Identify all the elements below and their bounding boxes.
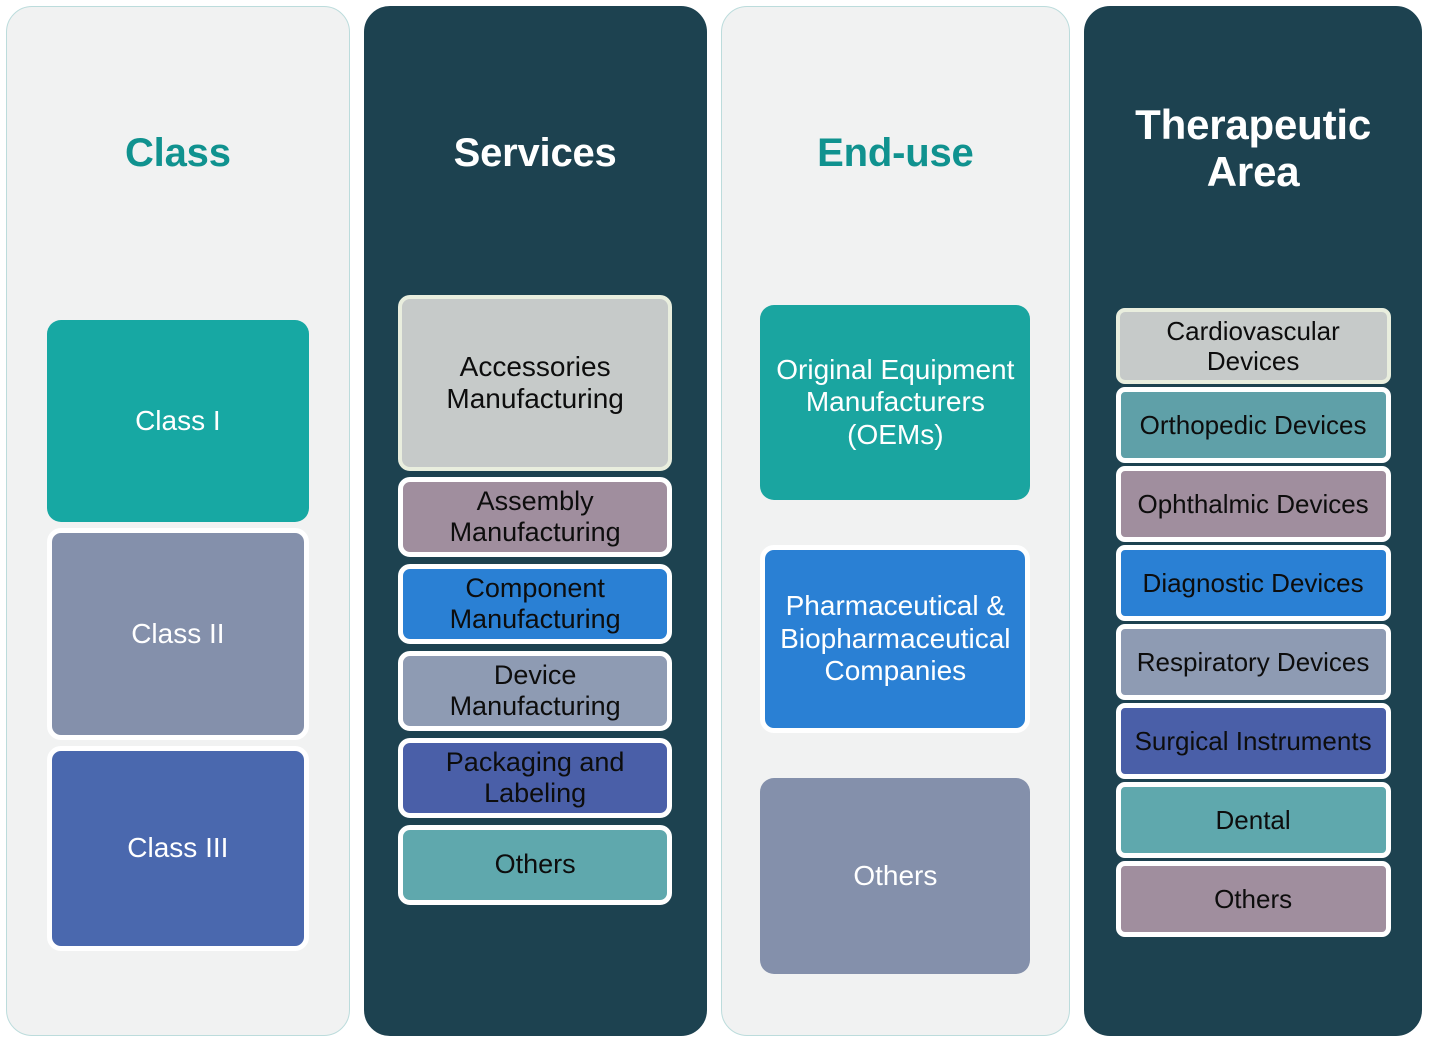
chip-surgical-instruments[interactable]: Surgical Instruments [1116, 703, 1391, 779]
column-therapeutic-area: Therapeutic Area Cardiovascular Devices … [1084, 6, 1422, 1036]
chip-label: Component Manufacturing [411, 573, 659, 636]
chip-label: Others [768, 860, 1022, 892]
enduse-item-list: Original Equipment Manufacturers (OEMs) … [760, 305, 1030, 974]
chip-label: Class II [60, 618, 296, 650]
chip-orthopedic-devices[interactable]: Orthopedic Devices [1116, 387, 1391, 463]
chip-assembly-manufacturing[interactable]: Assembly Manufacturing [398, 477, 672, 557]
chip-label: Original Equipment Manufacturers (OEMs) [768, 354, 1022, 451]
chip-original-equipment-manufacturers[interactable]: Original Equipment Manufacturers (OEMs) [760, 305, 1030, 500]
chip-pharmaceutical-biopharmaceutical-companies[interactable]: Pharmaceutical & Biopharmaceutical Compa… [760, 545, 1030, 733]
chip-label: Packaging and Labeling [411, 747, 659, 810]
column-title-class: Class [21, 131, 335, 176]
column-title-therapeutic-area: Therapeutic Area [1099, 101, 1408, 195]
chip-class-iii[interactable]: Class III [47, 746, 309, 951]
chip-label: Device Manufacturing [411, 660, 659, 723]
chip-label: Accessories Manufacturing [410, 351, 660, 416]
chip-label: Class III [60, 832, 296, 864]
chip-label: Assembly Manufacturing [411, 486, 659, 549]
chip-diagnostic-devices[interactable]: Diagnostic Devices [1116, 545, 1391, 621]
column-class: Class Class I Class II Class III [6, 6, 350, 1036]
class-item-list: Class I Class II Class III [47, 320, 309, 951]
chip-label: Ophthalmic Devices [1129, 489, 1378, 519]
chip-label: Dental [1129, 805, 1378, 835]
therapeutic-item-list: Cardiovascular Devices Orthopedic Device… [1116, 308, 1391, 937]
chip-packaging-and-labeling[interactable]: Packaging and Labeling [398, 738, 672, 818]
chip-component-manufacturing[interactable]: Component Manufacturing [398, 564, 672, 644]
chip-label: Cardiovascular Devices [1128, 316, 1379, 376]
chip-label: Class I [55, 405, 301, 437]
column-services: Services Accessories Manufacturing Assem… [364, 6, 707, 1036]
chip-class-i[interactable]: Class I [47, 320, 309, 522]
chip-label: Pharmaceutical & Biopharmaceutical Compa… [773, 590, 1017, 687]
chip-cardiovascular-devices[interactable]: Cardiovascular Devices [1116, 308, 1391, 384]
chip-respiratory-devices[interactable]: Respiratory Devices [1116, 624, 1391, 700]
column-enduse: End-use Original Equipment Manufacturers… [721, 6, 1071, 1036]
chip-label: Orthopedic Devices [1129, 410, 1378, 440]
chip-enduse-others[interactable]: Others [760, 778, 1030, 974]
chip-services-others[interactable]: Others [398, 825, 672, 905]
chip-accessories-manufacturing[interactable]: Accessories Manufacturing [398, 295, 672, 471]
chip-dental[interactable]: Dental [1116, 782, 1391, 858]
chip-device-manufacturing[interactable]: Device Manufacturing [398, 651, 672, 731]
segmentation-board: Class Class I Class II Class III Service… [0, 0, 1430, 1042]
chip-label: Respiratory Devices [1129, 647, 1378, 677]
chip-therapeutic-others[interactable]: Others [1116, 861, 1391, 937]
chip-class-ii[interactable]: Class II [47, 528, 309, 740]
chip-label: Diagnostic Devices [1129, 568, 1378, 598]
chip-label: Surgical Instruments [1129, 726, 1378, 756]
chip-label: Others [411, 849, 659, 880]
services-item-list: Accessories Manufacturing Assembly Manuf… [398, 295, 672, 905]
chip-ophthalmic-devices[interactable]: Ophthalmic Devices [1116, 466, 1391, 542]
column-title-services: Services [378, 131, 691, 176]
chip-label: Others [1129, 884, 1378, 914]
column-title-enduse: End-use [735, 131, 1055, 176]
